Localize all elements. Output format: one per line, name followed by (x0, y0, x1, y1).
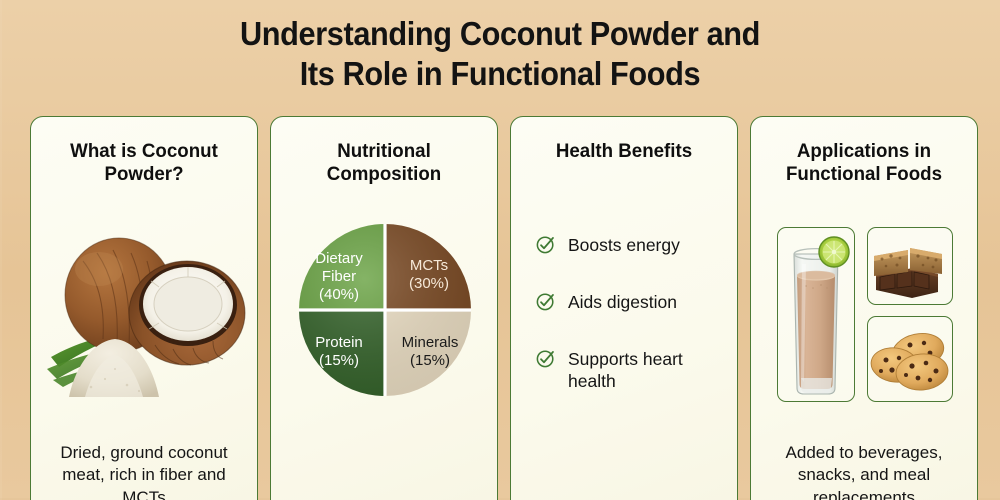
svg-text:Minerals: Minerals (402, 334, 459, 351)
benefit-label: Boosts energy (568, 233, 680, 256)
svg-text:MCTs: MCTs (410, 257, 448, 274)
granola-and-chocolate-bars-icon (868, 228, 952, 304)
check-circle-icon (535, 233, 557, 255)
svg-text:Fiber: Fiber (322, 268, 356, 285)
pie-label-protein: Protein (15%) (315, 334, 363, 369)
svg-text:Dietary: Dietary (315, 250, 363, 267)
image-frame-cookies[interactable] (867, 316, 953, 402)
page-title-line-1: Understanding Coconut Powder and (35, 14, 965, 54)
list-item[interactable]: Boosts energy (535, 233, 725, 256)
card-heading: Health Benefits (516, 117, 733, 163)
card-description: Added to beverages, snacks, and meal rep… (759, 442, 969, 500)
card-row: What is Coconut Powder? (30, 116, 970, 500)
benefit-label: Supports heart health (568, 347, 725, 392)
svg-text:Protein: Protein (315, 334, 363, 351)
benefit-label: Aids digestion (568, 290, 677, 313)
svg-text:(30%): (30%) (409, 275, 449, 292)
svg-text:(15%): (15%) (319, 352, 359, 369)
granola-bar (874, 248, 942, 276)
pie-label-minerals: Minerals (15%) (402, 334, 459, 369)
image-frame-bars[interactable] (867, 227, 953, 305)
svg-text:(40%): (40%) (319, 286, 359, 303)
svg-text:(15%): (15%) (410, 352, 450, 369)
coconut-illustration (31, 217, 257, 402)
card-what-is-coconut-powder[interactable]: What is Coconut Powder? (30, 116, 258, 500)
pie-chart[interactable]: MCTs (30%) Minerals (15%) Protein (15%) … (271, 217, 497, 417)
card-heading: Nutritional Composition (276, 117, 493, 187)
image-frame-milkshake[interactable] (777, 227, 855, 402)
pie-label-mcts: MCTs (30%) (409, 257, 449, 292)
card-heading: Applications in Functional Foods (756, 117, 973, 187)
card-heading: What is Coconut Powder? (36, 117, 253, 187)
card-description: Dried, ground coconut meat, rich in fibe… (39, 442, 249, 500)
chocolate-chip-cookies-icon (868, 317, 952, 401)
list-item[interactable]: Supports heart health (535, 347, 725, 392)
page-title: Understanding Coconut Powder and Its Rol… (35, 14, 965, 95)
card-applications-in-functional-foods[interactable]: Applications in Functional Foods (750, 116, 978, 500)
check-circle-icon (535, 347, 557, 369)
card-health-benefits[interactable]: Health Benefits Boosts energy Aids diges… (510, 116, 738, 500)
benefits-list: Boosts energy Aids digestion Supports he… (535, 233, 725, 426)
page-title-line-2: Its Role in Functional Foods (35, 54, 965, 94)
coconut-milkshake-glass-with-lime-icon (778, 228, 854, 401)
card-nutritional-composition[interactable]: Nutritional Composition (270, 116, 498, 500)
pie-label-dietary-fiber: Dietary Fiber (40%) (315, 250, 363, 303)
list-item[interactable]: Aids digestion (535, 290, 725, 313)
check-circle-icon (535, 290, 557, 312)
